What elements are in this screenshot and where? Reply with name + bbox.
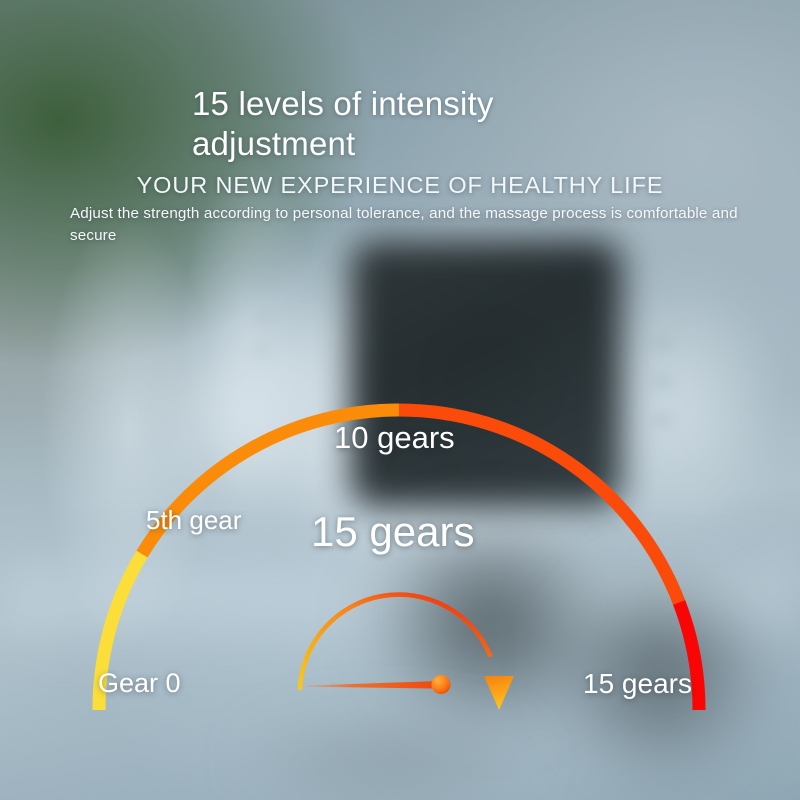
gauge-needle-hub xyxy=(431,675,450,694)
inner-gauge-arrow-icon xyxy=(484,676,514,710)
gauge-label-min: Gear 0 xyxy=(98,668,181,699)
promo-banner: 15 levels of intensity adjustment YOUR N… xyxy=(0,0,800,800)
gauge-label-center: 15 gears xyxy=(311,508,474,556)
gauge-label-mid-high: 10 gears xyxy=(334,420,455,456)
gauge-needle xyxy=(306,681,441,689)
gauge-label-mid-low: 5th gear xyxy=(146,505,241,536)
gauge-label-max: 15 gears xyxy=(583,668,692,700)
inner-gauge-arc xyxy=(300,595,490,688)
